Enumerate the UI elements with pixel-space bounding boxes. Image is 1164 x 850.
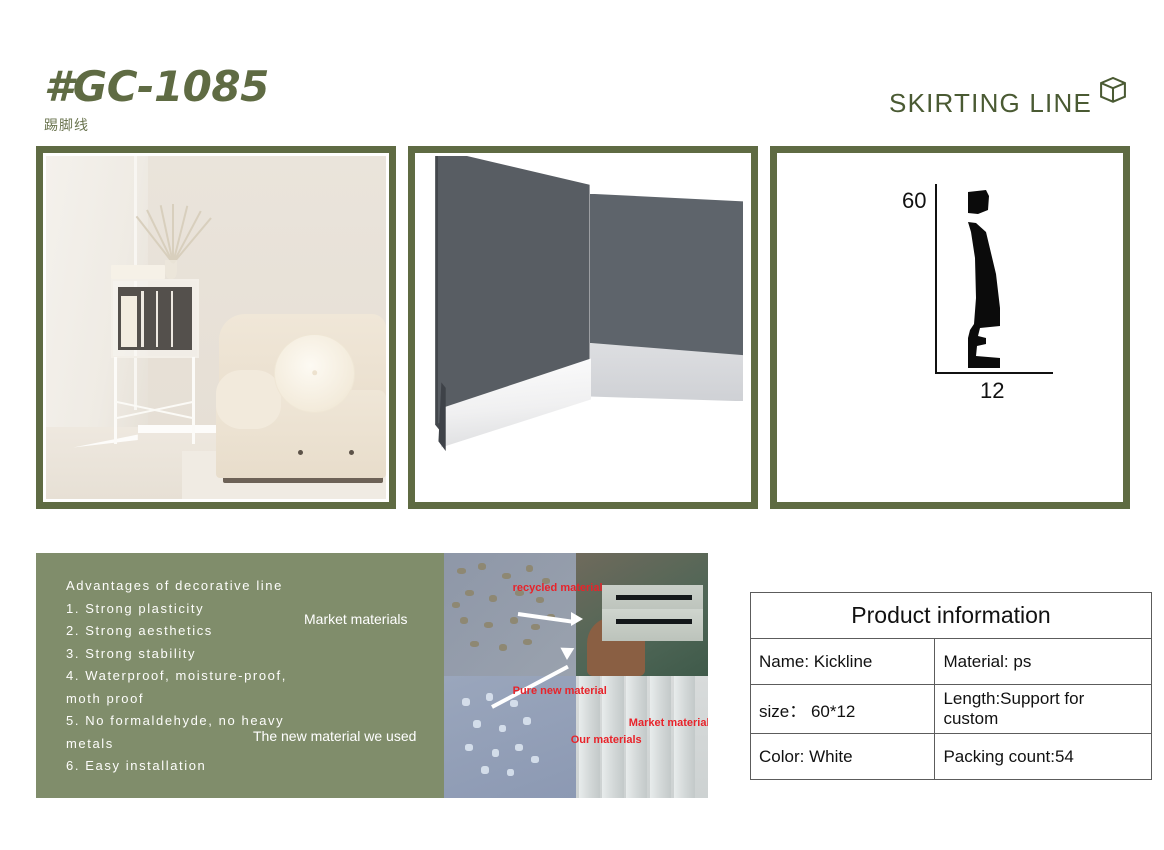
list-item: 3. Strong stability <box>66 643 476 666</box>
books-on-table <box>111 265 166 280</box>
table-header-row: Product information <box>751 593 1152 639</box>
round-cushion <box>274 334 356 413</box>
product-3d-render <box>418 156 748 499</box>
list-item: 1. Strong plasticity <box>66 598 476 621</box>
table-row: Name: Kickline Material: ps <box>751 639 1152 685</box>
materials-comparison-image: recycled material Pure new material Mark… <box>444 553 708 798</box>
interior-room-photo <box>46 156 386 499</box>
product-information-table: Product information Name: Kickline Mater… <box>750 592 1152 780</box>
cell-packing-count: Packing count:54 <box>935 734 1152 780</box>
page-title: #GC-1085 <box>44 62 269 111</box>
note-new-material: The new material we used <box>253 728 416 744</box>
annotation-pure-new-material: Pure new material <box>513 685 607 697</box>
profile-dimension-drawing: 60 12 <box>780 156 1120 499</box>
annotation-recycled-material: recycled material <box>513 582 603 594</box>
header-title-block: #GC-1085 踢脚线 <box>44 62 269 135</box>
list-item: 6. Easy installation <box>66 755 476 778</box>
category-label: SKIRTING LINE <box>889 90 1092 116</box>
cell-name: Name: Kickline <box>751 639 935 685</box>
width-dimension-label: 12 <box>980 378 1004 404</box>
list-item: 2. Strong aesthetics <box>66 620 476 643</box>
advantages-list: Advantages of decorative line 1. Strong … <box>66 575 476 778</box>
cell-color: Color: White <box>751 734 935 780</box>
side-table <box>111 279 199 444</box>
recycled-pellets-photo <box>444 553 576 676</box>
list-item: moth proof <box>66 688 476 711</box>
glass-vase <box>165 260 176 280</box>
interior-room-photo-panel <box>36 146 396 509</box>
cell-length: Length:Support for custom <box>935 685 1152 734</box>
spec-drawing-panel: GUANCHENG 60 12 <box>770 146 1130 509</box>
table-row: size： 60*12 Length:Support for custom <box>751 685 1152 734</box>
annotation-our-materials: Our materials <box>571 734 642 746</box>
annotation-market-materials: Market materials <box>629 717 708 729</box>
note-market-materials: Market materials <box>304 611 407 627</box>
product-render-panel: GUANCHENG <box>408 146 758 509</box>
sofa <box>216 314 386 479</box>
moulding-in-hand-photo <box>576 553 708 676</box>
dried-plant <box>157 204 189 263</box>
table-title: Product information <box>751 593 1152 639</box>
header-category-block: SKIRTING LINE <box>889 72 1130 116</box>
height-dimension-label: 60 <box>902 188 926 214</box>
advantages-heading: Advantages of decorative line <box>66 575 476 598</box>
cell-size: size： 60*12 <box>751 685 935 734</box>
page-subtitle: 踢脚线 <box>44 115 269 135</box>
box-icon <box>1096 72 1130 106</box>
cell-material: Material: ps <box>935 639 1152 685</box>
table-row: Color: White Packing count:54 <box>751 734 1152 780</box>
skirting-profile-silhouette <box>956 188 1008 375</box>
vertical-dimension-line <box>935 184 937 374</box>
list-item: 4. Waterproof, moisture-proof, <box>66 665 476 688</box>
arrow-head-recycled <box>571 612 583 626</box>
